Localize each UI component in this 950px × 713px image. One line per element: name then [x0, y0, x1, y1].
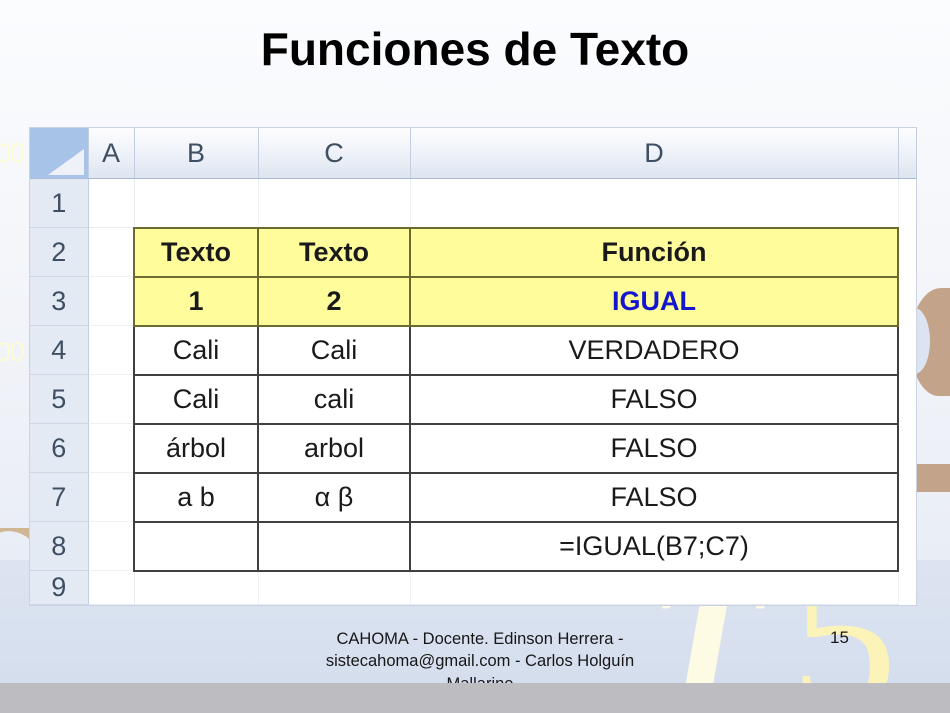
row-header-3[interactable]: 3 [30, 277, 88, 326]
cell-b4[interactable]: Cali [134, 326, 258, 375]
bottom-strip [0, 683, 950, 713]
select-all-corner[interactable] [30, 128, 88, 179]
cell-c2[interactable]: Texto [258, 228, 410, 277]
table-row: 1 [30, 179, 916, 228]
row-header-1[interactable]: 1 [30, 179, 88, 228]
cell-d4[interactable]: VERDADERO [410, 326, 898, 375]
cell-tail-7 [898, 473, 916, 522]
cell-a9[interactable] [88, 571, 134, 605]
cell-d6[interactable]: FALSO [410, 424, 898, 473]
cell-b5[interactable]: Cali [134, 375, 258, 424]
slide-canvas: T 5 00 00 Funciones de Texto A B C D [0, 0, 950, 713]
cell-d1[interactable] [410, 179, 898, 228]
table-row: 8 =IGUAL(B7;C7) [30, 522, 916, 571]
page-number: 15 [830, 628, 849, 648]
column-header-c[interactable]: C [258, 128, 410, 179]
cell-c4[interactable]: Cali [258, 326, 410, 375]
column-header-a[interactable]: A [88, 128, 134, 179]
cell-b7[interactable]: a b [134, 473, 258, 522]
cell-b1[interactable] [134, 179, 258, 228]
cell-c9[interactable] [258, 571, 410, 605]
cell-c8[interactable] [258, 522, 410, 571]
table-row: 3 1 2 IGUAL [30, 277, 916, 326]
cell-b2[interactable]: Texto [134, 228, 258, 277]
cell-tail-2 [898, 228, 916, 277]
cell-c7[interactable]: α β [258, 473, 410, 522]
cell-a3[interactable] [88, 277, 134, 326]
table-row: 2 Texto Texto Función [30, 228, 916, 277]
cell-b3[interactable]: 1 [134, 277, 258, 326]
row-header-2[interactable]: 2 [30, 228, 88, 277]
spreadsheet: A B C D 1 2 Texto Texto Funci [30, 128, 916, 605]
zero-mark-top: 00 [0, 138, 24, 169]
table-row: 5 Cali cali FALSO [30, 375, 916, 424]
cell-c6[interactable]: arbol [258, 424, 410, 473]
column-header-b[interactable]: B [134, 128, 258, 179]
cell-a8[interactable] [88, 522, 134, 571]
column-header-tail [898, 128, 916, 179]
cell-a4[interactable] [88, 326, 134, 375]
row-header-5[interactable]: 5 [30, 375, 88, 424]
cell-tail-8 [898, 522, 916, 571]
cell-tail-9 [898, 571, 916, 605]
row-header-6[interactable]: 6 [30, 424, 88, 473]
cell-d7[interactable]: FALSO [410, 473, 898, 522]
cell-a6[interactable] [88, 424, 134, 473]
cell-b6[interactable]: árbol [134, 424, 258, 473]
cell-a1[interactable] [88, 179, 134, 228]
cell-d3[interactable]: IGUAL [410, 277, 898, 326]
cell-tail-6 [898, 424, 916, 473]
spreadsheet-grid: A B C D 1 2 Texto Texto Funci [30, 128, 917, 605]
tan-blob-right-middle [912, 464, 950, 492]
zero-mark-bottom: 00 [0, 337, 24, 368]
cell-d5[interactable]: FALSO [410, 375, 898, 424]
table-row: 9 [30, 571, 916, 605]
table-row: 6 árbol arbol FALSO [30, 424, 916, 473]
row-header-4[interactable]: 4 [30, 326, 88, 375]
cell-a2[interactable] [88, 228, 134, 277]
cell-d8[interactable]: =IGUAL(B7;C7) [410, 522, 898, 571]
cell-c5[interactable]: cali [258, 375, 410, 424]
table-row: 4 Cali Cali VERDADERO [30, 326, 916, 375]
row-header-7[interactable]: 7 [30, 473, 88, 522]
cell-a7[interactable] [88, 473, 134, 522]
cell-d2[interactable]: Función [410, 228, 898, 277]
table-row: 7 a b α β FALSO [30, 473, 916, 522]
cell-a5[interactable] [88, 375, 134, 424]
row-header-9[interactable]: 9 [30, 571, 88, 605]
cell-c3[interactable]: 2 [258, 277, 410, 326]
cell-tail-5 [898, 375, 916, 424]
cell-d9[interactable] [410, 571, 898, 605]
cell-tail-1 [898, 179, 916, 228]
row-header-8[interactable]: 8 [30, 522, 88, 571]
column-header-d[interactable]: D [410, 128, 898, 179]
select-all-triangle-icon [48, 149, 84, 175]
cell-b8[interactable] [134, 522, 258, 571]
column-header-row: A B C D [30, 128, 916, 179]
cell-tail-3 [898, 277, 916, 326]
cell-tail-4 [898, 326, 916, 375]
cell-b9[interactable] [134, 571, 258, 605]
cell-c1[interactable] [258, 179, 410, 228]
page-title: Funciones de Texto [0, 22, 950, 76]
